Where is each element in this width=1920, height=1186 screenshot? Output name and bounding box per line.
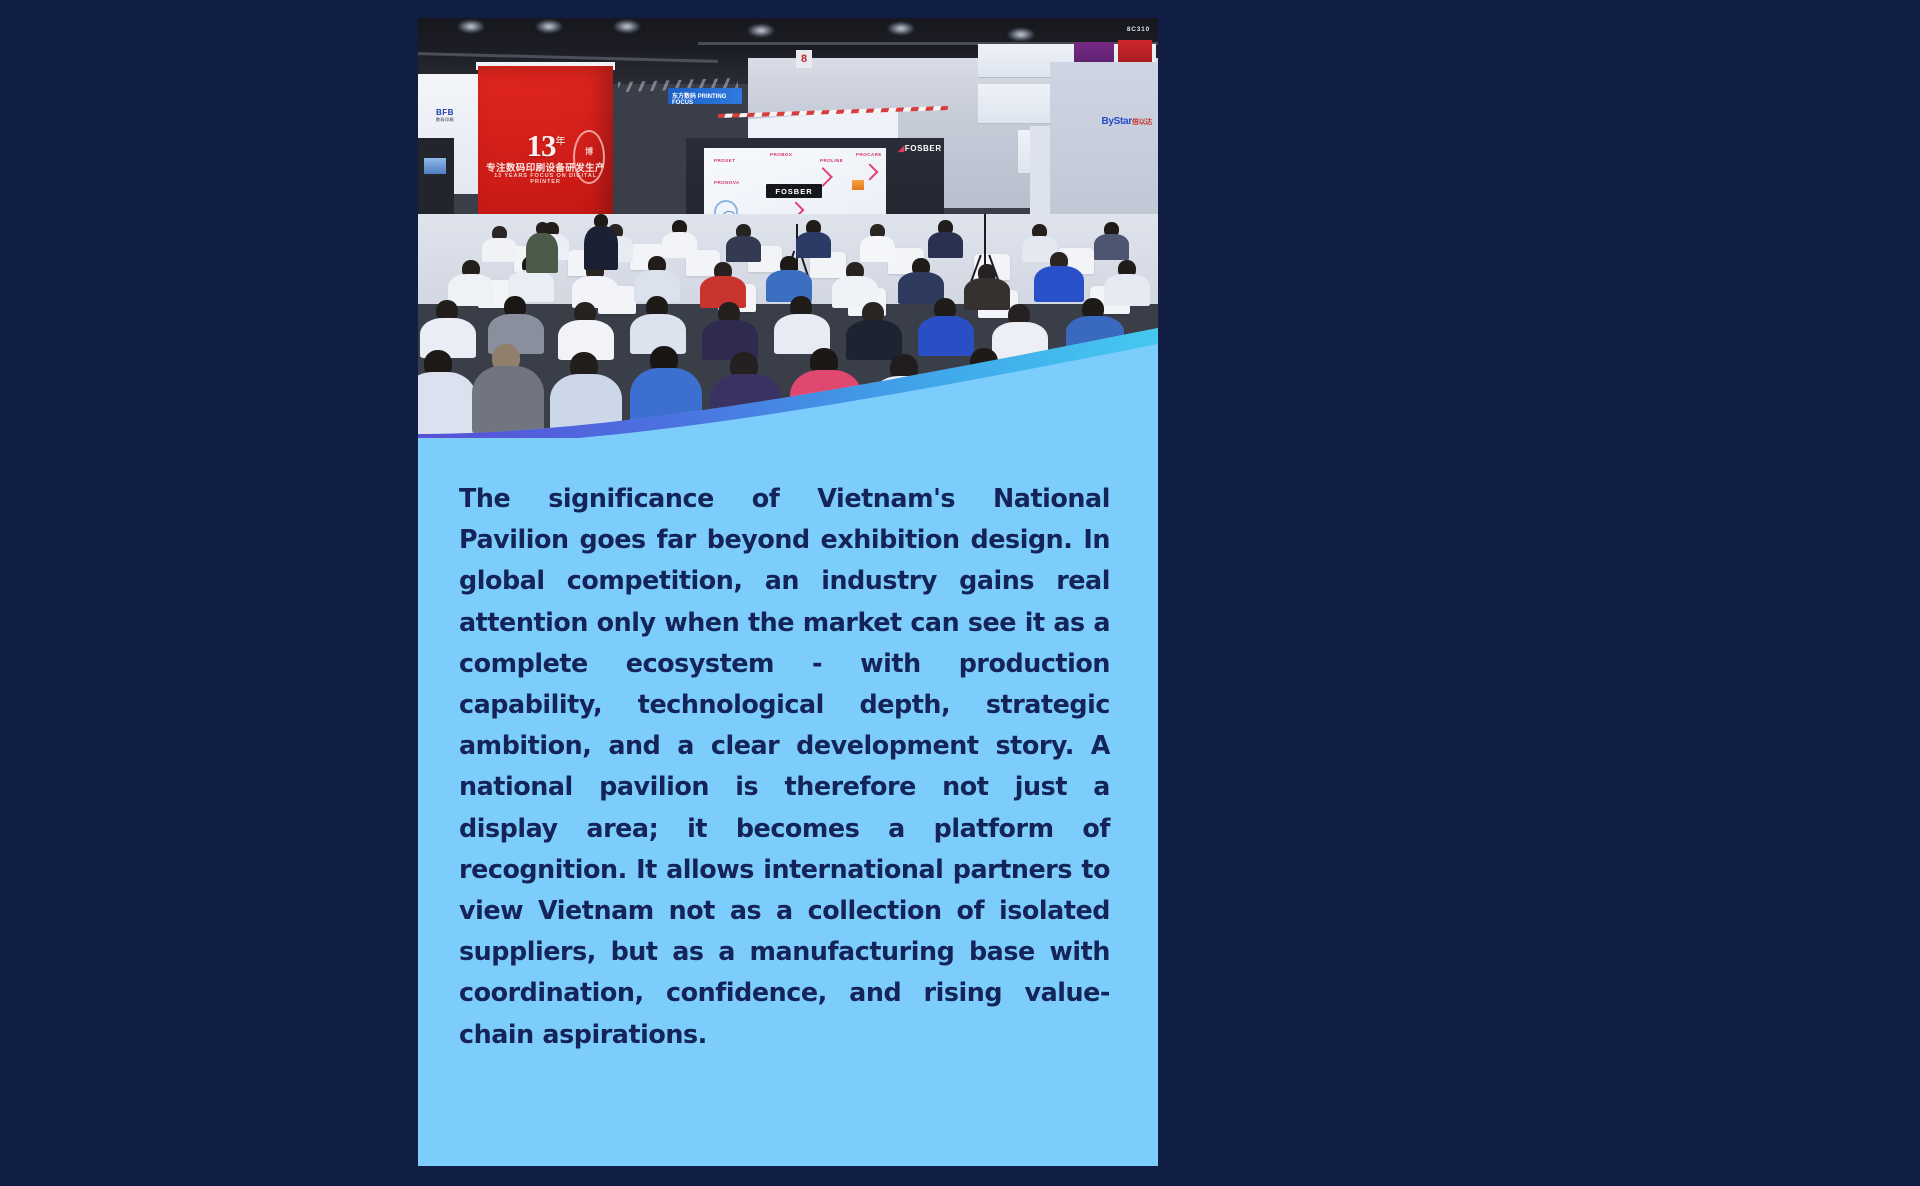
- overhead-banner: 东方数码 PRINTING FOCUS: [668, 88, 742, 104]
- presenter-body: [584, 226, 618, 270]
- ceiling-light-icon: [748, 24, 774, 37]
- right-booth-logo-label: ByStar: [1101, 116, 1131, 127]
- aisle-number-sign: 8: [796, 50, 812, 68]
- page-root: 8C310 8 东方数码 PRINTING FOCUS BFB 数码印刷: [0, 0, 1920, 1186]
- text-panel: The significance of Vietnam's National P…: [418, 438, 1158, 1166]
- audience-body: [482, 238, 517, 262]
- overhead-banner-label: 东方数码 PRINTING FOCUS: [672, 91, 742, 106]
- audience-body: [1034, 266, 1084, 302]
- ceiling-light-icon: [1008, 28, 1034, 41]
- left-booth-logo: BFB: [436, 108, 454, 117]
- ceiling-light-icon: [536, 20, 562, 33]
- audience-body: [860, 236, 895, 262]
- red-booth-unit: 年: [556, 137, 565, 148]
- ceiling-light-icon: [458, 20, 484, 33]
- hall-sign-label: 8C310: [1127, 26, 1150, 33]
- left-booth-logo-sub: 数码印刷: [436, 117, 454, 123]
- right-booth-logo: ByStar倍以达: [1101, 116, 1152, 127]
- fosber-mark-icon: ◢: [898, 144, 905, 153]
- curve-svg: [418, 298, 1158, 458]
- product-label: PROBOX: [770, 152, 792, 157]
- fosber-brand-right-label: FOSBER: [905, 144, 942, 153]
- product-label: PROSET: [714, 158, 735, 163]
- audience-body: [1094, 234, 1129, 260]
- right-booth-logo-cn: 倍以达: [1132, 119, 1152, 126]
- presenter-body: [526, 233, 558, 273]
- content-card: 8C310 8 东方数码 PRINTING FOCUS BFB 数码印刷: [418, 18, 1158, 1166]
- red-booth-seal-label: 博: [575, 146, 603, 157]
- audience-body: [662, 232, 697, 258]
- audience-body: [796, 232, 831, 258]
- fosber-brand-right: ◢FOSBER: [898, 144, 942, 153]
- curve-divider: [418, 298, 1158, 458]
- body-paragraph: The significance of Vietnam's National P…: [459, 478, 1110, 1055]
- red-booth-number-value: 13: [527, 128, 556, 163]
- ceiling-light-icon: [614, 20, 640, 33]
- ceiling-light-icon: [888, 22, 914, 35]
- product-label: PROLINE: [820, 158, 843, 163]
- product-label: PROCARE: [856, 152, 882, 157]
- audience-body: [928, 232, 963, 258]
- audience-body: [726, 236, 761, 262]
